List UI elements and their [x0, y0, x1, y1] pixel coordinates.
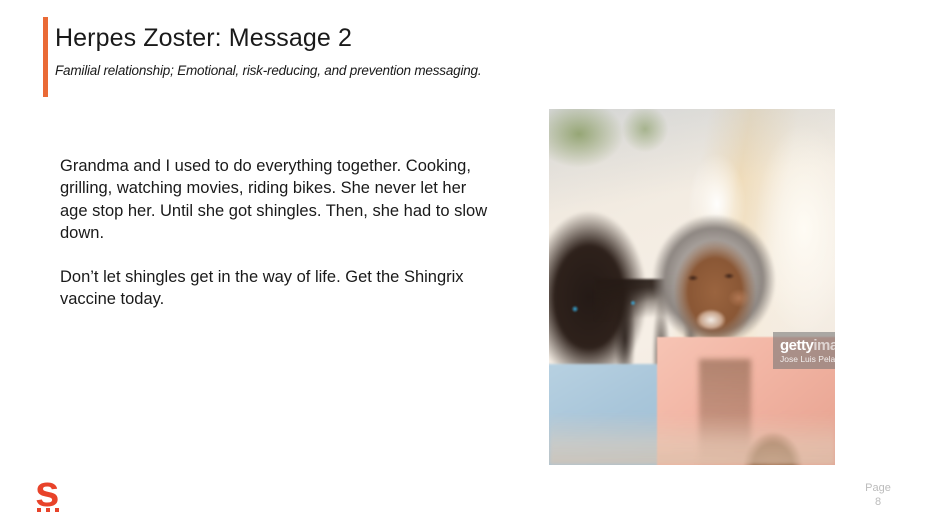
page-indicator: Page 8	[848, 481, 908, 509]
brand-logo: s	[35, 470, 81, 518]
slide-photo: gettyima Jose Luis Pelae	[549, 109, 835, 465]
body-paragraph-2: Don’t let shingles get in the way of lif…	[60, 266, 490, 311]
getty-watermark: gettyima Jose Luis Pelae	[773, 332, 835, 369]
body-paragraph-1: Grandma and I used to do everything toge…	[60, 155, 490, 244]
getty-wordmark-light: ima	[813, 337, 835, 354]
body-copy: Grandma and I used to do everything toge…	[60, 155, 490, 311]
title-accent-bar	[43, 17, 48, 97]
getty-wordmark-bold: getty	[780, 337, 813, 354]
brand-logo-dot	[37, 508, 41, 512]
getty-photographer-credit: Jose Luis Pelae	[780, 354, 835, 364]
slide-canvas: Herpes Zoster: Message 2 Familial relati…	[0, 0, 943, 530]
page-subtitle: Familial relationship; Emotional, risk-r…	[55, 62, 481, 80]
page-indicator-number: 8	[848, 495, 908, 509]
getty-wordmark: gettyima	[780, 337, 835, 354]
photo-grandmother-features	[667, 234, 765, 354]
page-title: Herpes Zoster: Message 2	[55, 22, 352, 54]
page-indicator-label: Page	[848, 481, 908, 495]
photo-floor	[549, 413, 835, 465]
brand-logo-dots	[37, 508, 59, 512]
brand-logo-dot	[55, 508, 59, 512]
brand-logo-dot	[46, 508, 50, 512]
